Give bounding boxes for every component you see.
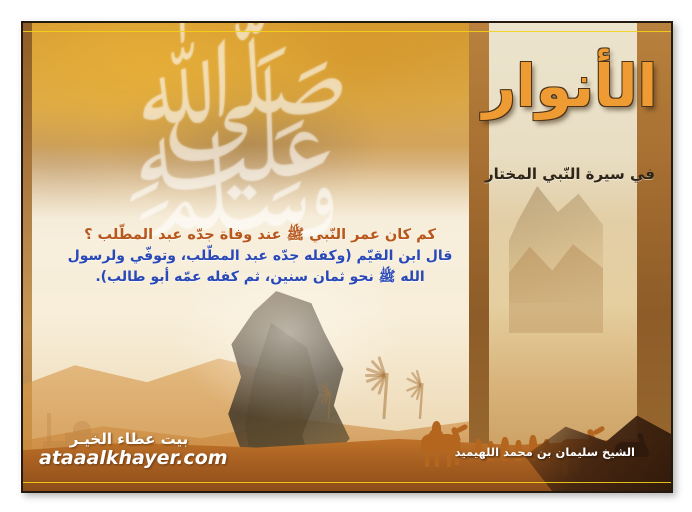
site-watermark: بيت عطاء الخيـر ataaalkhayer.com xyxy=(39,430,219,469)
hairline-top xyxy=(23,31,671,32)
question-text: كم كان عمر النّبي ﷺ عند وفاة جدّه عبد ال… xyxy=(61,225,459,246)
answer-line-2: الله ﷺ نحو ثمان سنين، ثم كفله عمّه أبو ط… xyxy=(61,267,459,288)
answer-line-1: قال ابن القيّم (وكفله جدّه عبد المطّلب، … xyxy=(61,246,459,267)
page-title: الأنوار xyxy=(469,57,671,115)
page-subtitle: في سيرة النّبي المختار xyxy=(469,165,671,183)
question-answer-block: كم كان عمر النّبي ﷺ عند وفاة جدّه عبد ال… xyxy=(61,225,459,288)
artwork-canvas: ﷺ xyxy=(23,23,671,491)
author-credit: الشيخ سليمان بن محمد اللهيميد xyxy=(455,445,635,459)
poster-frame: ﷺ xyxy=(21,21,673,493)
watermark-arabic-text: بيت عطاء الخيـر xyxy=(39,430,219,448)
hairline-bottom xyxy=(23,482,671,483)
poster-stage: ﷺ xyxy=(0,0,692,512)
watermark-site-url: ataaalkhayer.com xyxy=(39,447,219,469)
